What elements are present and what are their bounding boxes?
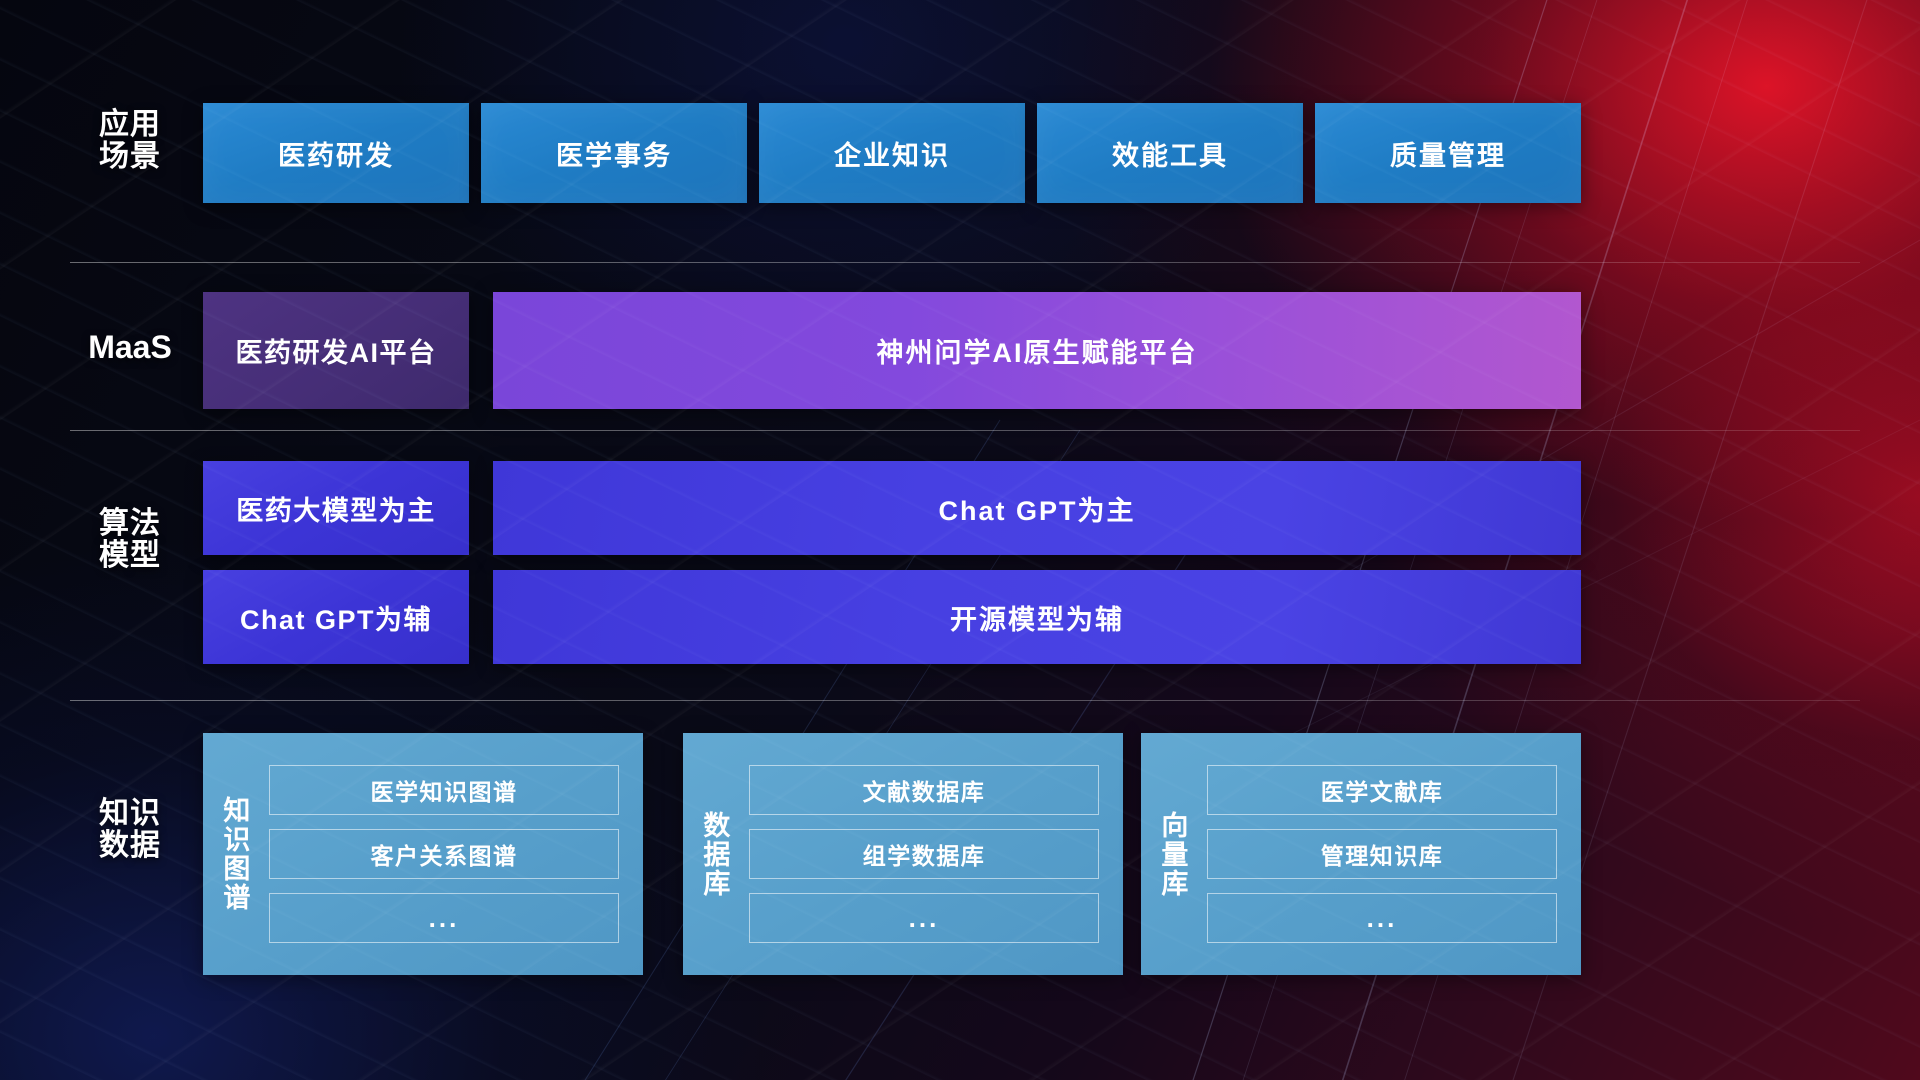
knowledge-item-label: 客户关系图谱 — [371, 837, 518, 871]
maas-card-medicine-ai-platform[interactable]: 医药研发AI平台 — [203, 292, 469, 409]
knowledge-item-more[interactable]: ... — [749, 893, 1099, 943]
knowledge-group-knowledge-graph[interactable]: 知识图谱 医学知识图谱 客户关系图谱 ... — [203, 733, 643, 975]
algo-card-medicine-large-model-primary[interactable]: 医药大模型为主 — [203, 461, 469, 555]
layer-label-application: 应用 场景 — [70, 109, 190, 174]
knowledge-group-database[interactable]: 数据库 文献数据库 组学数据库 ... — [683, 733, 1123, 975]
layer-label-maas: MaaS — [70, 330, 190, 365]
app-card-quality-management[interactable]: 质量管理 — [1315, 103, 1581, 203]
knowledge-item[interactable]: 组学数据库 — [749, 829, 1099, 879]
knowledge-item[interactable]: 管理知识库 — [1207, 829, 1557, 879]
knowledge-item[interactable]: 医学文献库 — [1207, 765, 1557, 815]
knowledge-item-label: 管理知识库 — [1321, 837, 1444, 871]
maas-card-label: 医药研发AI平台 — [236, 331, 437, 370]
app-card-medical-affairs[interactable]: 医学事务 — [481, 103, 747, 203]
knowledge-group-item-list: 医学知识图谱 客户关系图谱 ... — [265, 733, 643, 975]
algo-card-chatgpt-secondary[interactable]: Chat GPT为辅 — [203, 570, 469, 664]
knowledge-item[interactable]: 医学知识图谱 — [269, 765, 619, 815]
divider-algorithm-knowledge — [70, 700, 1860, 701]
knowledge-group-label: 向量库 — [1141, 733, 1203, 975]
knowledge-item-more[interactable]: ... — [269, 893, 619, 943]
layer-label-algorithm-line1: 算法 — [70, 508, 190, 540]
app-card-enterprise-knowledge[interactable]: 企业知识 — [759, 103, 1025, 203]
knowledge-item[interactable]: 文献数据库 — [749, 765, 1099, 815]
divider-application-maas — [70, 262, 1860, 263]
app-card-label: 医药研发 — [278, 134, 394, 173]
knowledge-group-label: 数据库 — [683, 733, 745, 975]
knowledge-item-label: 文献数据库 — [863, 773, 986, 807]
algo-card-label: 开源模型为辅 — [950, 598, 1124, 637]
app-card-label: 效能工具 — [1112, 134, 1228, 173]
knowledge-item[interactable]: 客户关系图谱 — [269, 829, 619, 879]
divider-maas-algorithm — [70, 430, 1860, 431]
knowledge-group-item-list: 医学文献库 管理知识库 ... — [1203, 733, 1581, 975]
app-card-efficiency-tools[interactable]: 效能工具 — [1037, 103, 1303, 203]
knowledge-group-item-list: 文献数据库 组学数据库 ... — [745, 733, 1123, 975]
knowledge-item-label: 医学文献库 — [1321, 773, 1444, 807]
layer-label-knowledge-line2: 数据 — [70, 830, 190, 862]
layer-label-knowledge-line1: 知识 — [70, 798, 190, 830]
algo-card-label: Chat GPT为辅 — [240, 598, 432, 637]
app-card-label: 医学事务 — [556, 134, 672, 173]
app-card-label: 企业知识 — [834, 134, 950, 173]
knowledge-item-label: ... — [909, 903, 940, 934]
algo-card-label: Chat GPT为主 — [938, 489, 1135, 528]
layer-label-knowledge: 知识 数据 — [70, 798, 190, 863]
knowledge-item-label: 组学数据库 — [863, 837, 986, 871]
layer-label-algorithm-line2: 模型 — [70, 540, 190, 572]
knowledge-item-label: ... — [1367, 903, 1398, 934]
maas-card-label: 神州问学AI原生赋能平台 — [877, 331, 1198, 370]
maas-card-shenzhou-wenxue-platform[interactable]: 神州问学AI原生赋能平台 — [493, 292, 1581, 409]
layer-label-algorithm: 算法 模型 — [70, 508, 190, 573]
layer-label-application-line1: 应用 — [70, 109, 190, 141]
algo-card-opensource-secondary[interactable]: 开源模型为辅 — [493, 570, 1581, 664]
algo-card-chatgpt-primary[interactable]: Chat GPT为主 — [493, 461, 1581, 555]
knowledge-item-label: 医学知识图谱 — [371, 773, 518, 807]
algo-card-label: 医药大模型为主 — [236, 489, 436, 528]
knowledge-item-label: ... — [429, 903, 460, 934]
app-card-label: 质量管理 — [1390, 134, 1506, 173]
knowledge-group-label: 知识图谱 — [203, 733, 265, 975]
architecture-diagram-canvas: 应用 场景 医药研发 医学事务 企业知识 效能工具 质量管理 MaaS 医药研发… — [0, 0, 1920, 1080]
app-card-medicine-rd[interactable]: 医药研发 — [203, 103, 469, 203]
layer-label-application-line2: 场景 — [70, 141, 190, 173]
knowledge-item-more[interactable]: ... — [1207, 893, 1557, 943]
knowledge-group-vector-store[interactable]: 向量库 医学文献库 管理知识库 ... — [1141, 733, 1581, 975]
